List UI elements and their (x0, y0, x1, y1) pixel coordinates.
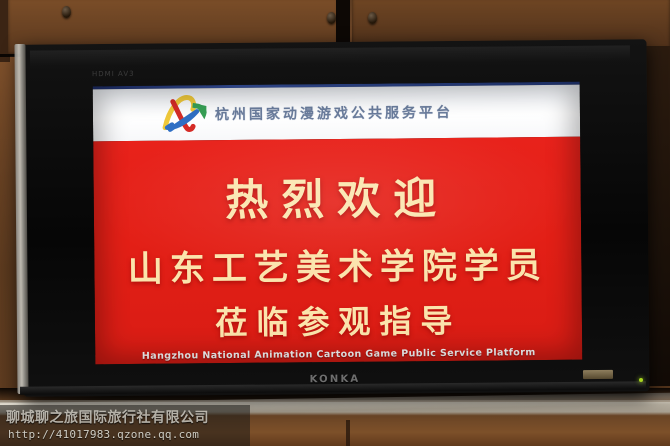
tv-bezel-sticker (583, 370, 613, 379)
cabinet-knob-icon (327, 12, 336, 24)
slide-header-bar: 杭州国家动漫游戏公共服务平台 (93, 85, 580, 142)
slide-red-panel: 热烈欢迎 山东工艺美术学院学员 莅临参观指导 Hangzhou National… (93, 137, 582, 365)
cabinet-knob-icon (368, 12, 377, 24)
slide-header-title: 杭州国家动漫游戏公共服务平台 (215, 102, 453, 124)
swoosh-ribbon-logo (153, 91, 209, 136)
watermark-url: http://41017983.qzone.qq.com (8, 428, 199, 441)
tv-input-label: HDMI AV3 (92, 70, 135, 78)
slide-visit-phrase: 莅临参观指导 (95, 295, 582, 346)
cabinet-knob-icon (62, 6, 71, 18)
slide-guest-name: 山东工艺美术学院学员 (94, 237, 581, 293)
tv-power-led-indicator (639, 378, 643, 382)
photo-scene: HDMI AV3 KONKA 杭州国家动漫游戏公共服务平台 热烈欢迎 山东工艺美… (0, 0, 670, 446)
shelf-seam (346, 420, 350, 446)
slide-welcome-heading: 热烈欢迎 (93, 163, 581, 230)
tv-screen: 杭州国家动漫游戏公共服务平台 热烈欢迎 山东工艺美术学院学员 莅临参观指导 Ha… (93, 82, 583, 365)
slide-english-subtitle: Hangzhou National Animation Cartoon Game… (95, 347, 582, 363)
watermark-company-name: 聊城聊之旅国际旅行社有限公司 (6, 407, 209, 427)
